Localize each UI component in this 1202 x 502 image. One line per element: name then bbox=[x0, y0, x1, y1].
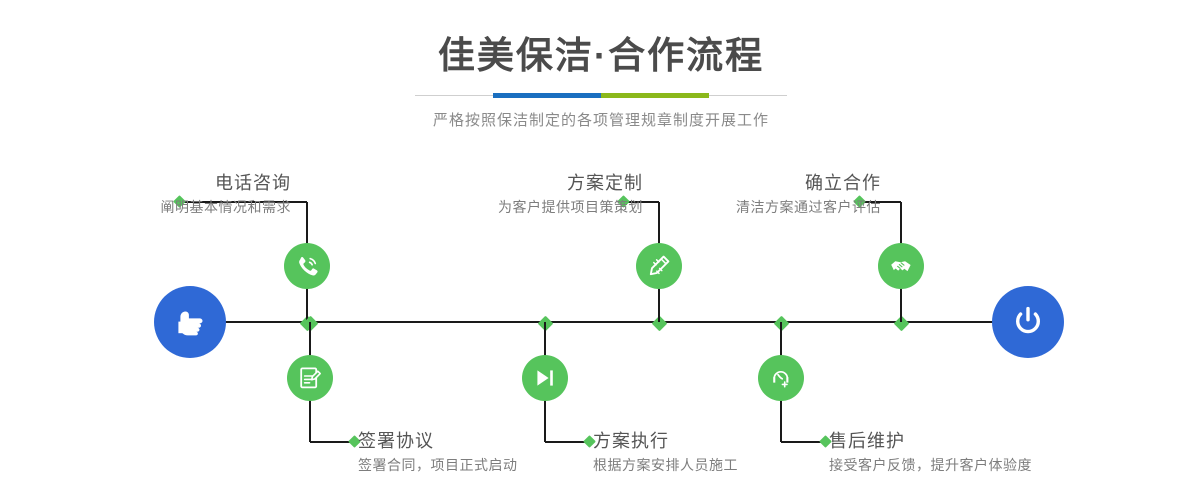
step-icon-bubble[interactable] bbox=[522, 355, 568, 401]
cooperation-flow-infographic: 佳美保洁·合作流程 严格按照保洁制定的各项管理规章制度开展工作 bbox=[0, 0, 1202, 502]
skip-forward-icon bbox=[532, 365, 558, 391]
step-description: 根据方案安排人员施工 bbox=[593, 455, 853, 475]
step-label: 售后维护 接受客户反馈，提升客户体验度 bbox=[829, 430, 1129, 475]
step-description: 清洁方案通过客户评估 bbox=[633, 197, 885, 217]
step-label: 方案执行 根据方案安排人员施工 bbox=[593, 430, 853, 475]
step-description: 签署合同，项目正式启动 bbox=[358, 455, 618, 475]
step-label: 电话咨询 阐明基本情况和需求 bbox=[49, 172, 295, 217]
step-icon-bubble[interactable] bbox=[758, 355, 804, 401]
step-description: 阐明基本情况和需求 bbox=[49, 197, 295, 217]
step-label: 签署协议 签署合同，项目正式启动 bbox=[358, 430, 618, 475]
timeline-end-endpoint bbox=[992, 286, 1064, 358]
document-pen-icon bbox=[297, 365, 323, 391]
step-title: 方案定制 bbox=[395, 172, 647, 194]
step-description: 接受客户反馈，提升客户体验度 bbox=[829, 455, 1129, 475]
pointing-hand-icon bbox=[170, 302, 210, 342]
power-icon bbox=[1009, 303, 1047, 341]
step-description: 为客户提供项目策策划 bbox=[395, 197, 647, 217]
step-icon-bubble[interactable] bbox=[636, 243, 682, 289]
step-title: 电话咨询 bbox=[49, 172, 295, 194]
phone-call-icon bbox=[293, 252, 321, 280]
step-icon-bubble[interactable] bbox=[878, 243, 924, 289]
timeline: 电话咨询 阐明基本情况和需求 签署协议 签署合同， bbox=[0, 0, 1202, 502]
pencil-ruler-icon bbox=[646, 253, 672, 279]
timeline-start-endpoint bbox=[154, 286, 226, 358]
step-title: 售后维护 bbox=[829, 430, 1129, 452]
step-label: 方案定制 为客户提供项目策策划 bbox=[395, 172, 647, 217]
handshake-icon bbox=[888, 253, 915, 280]
customer-service-add-icon bbox=[768, 365, 794, 391]
step-icon-bubble[interactable] bbox=[284, 243, 330, 289]
step-label: 确立合作 清洁方案通过客户评估 bbox=[633, 172, 885, 217]
step-icon-bubble[interactable] bbox=[287, 355, 333, 401]
step-title: 确立合作 bbox=[633, 172, 885, 194]
